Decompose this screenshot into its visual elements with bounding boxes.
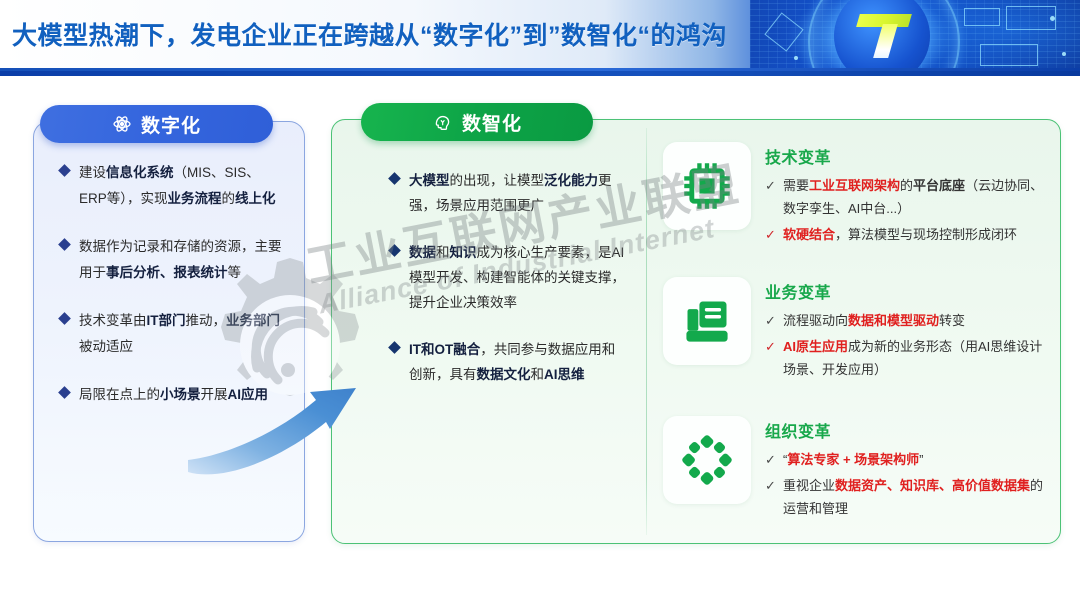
diamond-bullet-icon — [388, 172, 401, 185]
circuit-dot-1 — [1050, 16, 1055, 21]
circuit-dot-2 — [1062, 52, 1066, 56]
circuit-deco-2 — [1006, 6, 1056, 30]
diamond-bullet-icon — [58, 238, 71, 251]
block-body: 技术变革✓需要工业互联网架构的平台底座（云边协同、数字孪生、AI中台...）✓软… — [765, 142, 1048, 249]
check-item: ✓AI原生应用成为新的业务形态（用AI思维设计场景、开发应用） — [765, 335, 1048, 381]
check-icon: ✓ — [765, 335, 779, 358]
tech-artwork — [750, 0, 1080, 76]
diamond-bullet-icon — [58, 164, 71, 177]
list-item-text: 大模型的出现，让模型泛化能力更强，场景应用范围更广 — [409, 168, 628, 218]
list-item-text: 数据和知识成为核心生产要素，是AI模型开发、构建智能体的关键支撑，提升企业决策效… — [409, 240, 628, 315]
list-item: 大模型的出现，让模型泛化能力更强，场景应用范围更广 — [390, 168, 628, 218]
list-item-text: 数据作为记录和存储的资源，主要用于事后分析、报表统计等 — [79, 234, 282, 286]
check-item-text: AI原生应用成为新的业务形态（用AI思维设计场景、开发应用） — [783, 335, 1048, 381]
list-item: 数据作为记录和存储的资源，主要用于事后分析、报表统计等 — [60, 234, 282, 286]
list-item: IT和OT融合，共同参与数据应用和创新，具有数据文化和AI思维 — [390, 337, 628, 387]
list-item-text: 局限在点上的小场景开展AI应用 — [79, 382, 268, 408]
banner-bottom-strip — [0, 71, 1080, 76]
check-item: ✓流程驱动向数据和模型驱动转变 — [765, 309, 1048, 332]
badge-digitalization-label: 数字化 — [141, 111, 201, 138]
org-network-icon — [681, 434, 733, 486]
document-stack-icon — [681, 295, 733, 347]
block-title: 技术变革 — [765, 144, 1048, 168]
block-body: 组织变革✓“算法专家 + 场景架构师”✓重视企业数据资产、知识库、高价值数据集的… — [765, 416, 1048, 523]
icon-tile — [663, 277, 751, 365]
check-item-text: 重视企业数据资产、知识库、高价值数据集的运营和管理 — [783, 474, 1048, 520]
atom-icon — [112, 114, 132, 134]
check-item-text: 软硬结合，算法模型与现场控制形成闭环 — [783, 223, 1017, 246]
list-item-text: IT和OT融合，共同参与数据应用和创新，具有数据文化和AI思维 — [409, 337, 628, 387]
list-item: 技术变革由IT部门推动，业务部门被动适应 — [60, 308, 282, 360]
check-item: ✓需要工业互联网架构的平台底座（云边协同、数字孪生、AI中台...） — [765, 174, 1048, 220]
check-icon: ✓ — [765, 448, 779, 471]
icon-tile — [663, 416, 751, 504]
header-banner: 大模型热潮下，发电企业正在跨越从“数字化”到”数智化“的鸿沟 — [0, 0, 1080, 76]
diamond-bullet-icon — [388, 244, 401, 257]
check-item-text: 流程驱动向数据和模型驱动转变 — [783, 309, 965, 332]
list-item: 数据和知识成为核心生产要素，是AI模型开发、构建智能体的关键支撑，提升企业决策效… — [390, 240, 628, 315]
chip-icon — [681, 160, 733, 212]
diamond-bullet-icon — [58, 386, 71, 399]
digitalization-card: 建设信息化系统（MIS、SIS、ERP等），实现业务流程的线上化数据作为记录和存… — [33, 121, 305, 542]
check-item: ✓重视企业数据资产、知识库、高价值数据集的运营和管理 — [765, 474, 1048, 520]
digitalization-bullet-list: 建设信息化系统（MIS、SIS、ERP等），实现业务流程的线上化数据作为记录和存… — [60, 160, 282, 430]
check-item-text: 需要工业互联网架构的平台底座（云边协同、数字孪生、AI中台...） — [783, 174, 1048, 220]
badge-intelligentization-label: 数智化 — [462, 109, 522, 136]
check-icon: ✓ — [765, 223, 779, 246]
badge-intelligentization[interactable]: 数智化 — [361, 103, 593, 141]
brand-logo-t-icon — [858, 14, 910, 58]
list-item-text: 技术变革由IT部门推动，业务部门被动适应 — [79, 308, 282, 360]
intelligentization-bullet-list: 大模型的出现，让模型泛化能力更强，场景应用范围更广数据和知识成为核心生产要素，是… — [390, 168, 628, 409]
icon-tile — [663, 142, 751, 230]
ai-head-icon — [432, 112, 453, 133]
intelligentization-panel: 大模型的出现，让模型泛化能力更强，场景应用范围更广数据和知识成为核心生产要素，是… — [331, 119, 1061, 544]
badge-digitalization[interactable]: 数字化 — [40, 105, 273, 143]
block-title: 组织变革 — [765, 418, 1048, 442]
check-item: ✓软硬结合，算法模型与现场控制形成闭环 — [765, 223, 1048, 246]
check-item-text: “算法专家 + 场景架构师” — [783, 448, 924, 471]
check-icon: ✓ — [765, 174, 779, 197]
panel-divider — [646, 128, 647, 535]
circuit-deco-3 — [980, 44, 1038, 66]
check-icon: ✓ — [765, 309, 779, 332]
list-item: 建设信息化系统（MIS、SIS、ERP等），实现业务流程的线上化 — [60, 160, 282, 212]
transformation-block: 组织变革✓“算法专家 + 场景架构师”✓重视企业数据资产、知识库、高价值数据集的… — [663, 416, 1048, 523]
circuit-dot-3 — [794, 56, 798, 60]
transformation-block: 技术变革✓需要工业互联网架构的平台底座（云边协同、数字孪生、AI中台...）✓软… — [663, 142, 1048, 249]
block-title: 业务变革 — [765, 279, 1048, 303]
check-icon: ✓ — [765, 474, 779, 497]
check-item: ✓“算法专家 + 场景架构师” — [765, 448, 1048, 471]
diamond-bullet-icon — [58, 312, 71, 325]
circuit-deco-1 — [964, 8, 1000, 26]
block-body: 业务变革✓流程驱动向数据和模型驱动转变✓AI原生应用成为新的业务形态（用AI思维… — [765, 277, 1048, 384]
diamond-bullet-icon — [388, 341, 401, 354]
list-item: 局限在点上的小场景开展AI应用 — [60, 382, 282, 408]
transformation-block: 业务变革✓流程驱动向数据和模型驱动转变✓AI原生应用成为新的业务形态（用AI思维… — [663, 277, 1048, 384]
list-item-text: 建设信息化系统（MIS、SIS、ERP等），实现业务流程的线上化 — [79, 160, 282, 212]
page-title: 大模型热潮下，发电企业正在跨越从“数字化”到”数智化“的鸿沟 — [12, 16, 727, 52]
